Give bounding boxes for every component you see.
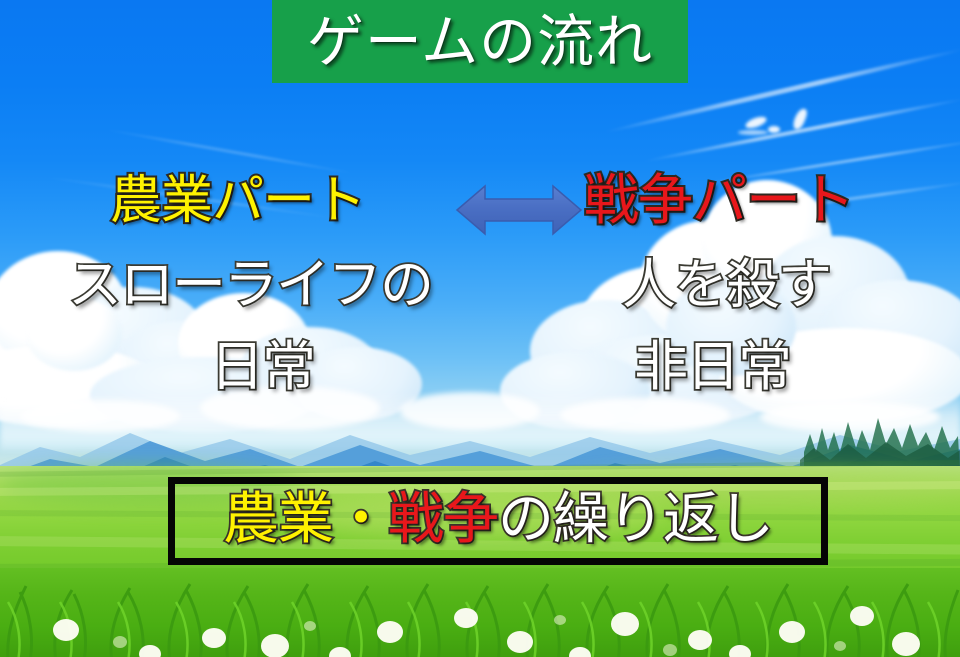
farming-part-line-2: 日常 xyxy=(210,340,314,394)
summary-segment-separator: ・ xyxy=(333,487,388,552)
small-cloud-puff-icon xyxy=(768,126,780,133)
slide-canvas: ゲームの流れ 農業パート スローライフの 日常 戦争パート 人を殺す 非日常 農… xyxy=(0,0,960,657)
page-title: ゲームの流れ xyxy=(307,14,653,71)
summary-text: 農業・戦争の繰り返し xyxy=(223,492,773,548)
summary-segment-repeat: の繰り返し xyxy=(498,487,773,552)
summary-segment-farming: 農業 xyxy=(223,487,333,552)
farming-part-line-1: スローライフの xyxy=(68,258,432,312)
small-cloud-puff-icon xyxy=(738,130,768,135)
war-part-line-2: 非日常 xyxy=(634,340,790,394)
summary-box: 農業・戦争の繰り返し xyxy=(168,477,828,565)
double-arrow-left-right-icon xyxy=(455,182,583,238)
title-banner: ゲームの流れ xyxy=(272,0,688,83)
foreground-grass xyxy=(0,568,960,657)
war-part-heading: 戦争パート xyxy=(584,173,854,228)
war-part-line-1: 人を殺す xyxy=(622,258,830,312)
summary-segment-war: 戦争 xyxy=(388,487,498,552)
farming-part-heading: 農業パート xyxy=(110,175,365,227)
